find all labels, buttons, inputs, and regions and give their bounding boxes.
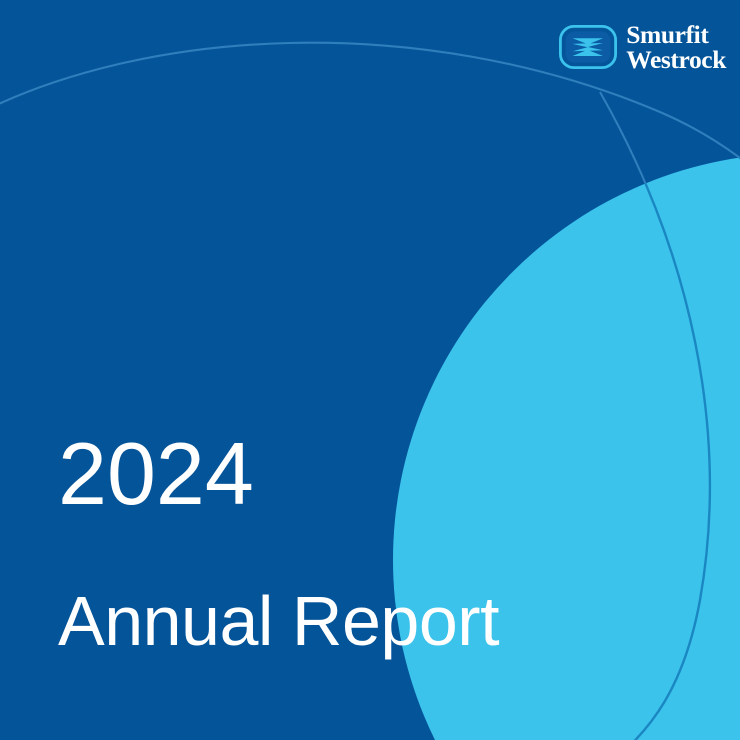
brand-wordmark-line-2: Westrock	[626, 47, 726, 72]
brand-wordmark-line-1: Smurfit	[626, 22, 726, 47]
cover-subtitle: Annual Report	[58, 586, 499, 656]
smurfit-westrock-wave-mark-icon	[559, 25, 617, 69]
cover-year: 2024	[58, 430, 499, 518]
brand-logo-lockup: Smurfit Westrock	[559, 22, 726, 72]
annual-report-cover: Smurfit Westrock 2024 Annual Report	[0, 0, 740, 740]
cover-title-block: 2024 Annual Report	[58, 430, 499, 656]
brand-wordmark: Smurfit Westrock	[626, 22, 726, 72]
